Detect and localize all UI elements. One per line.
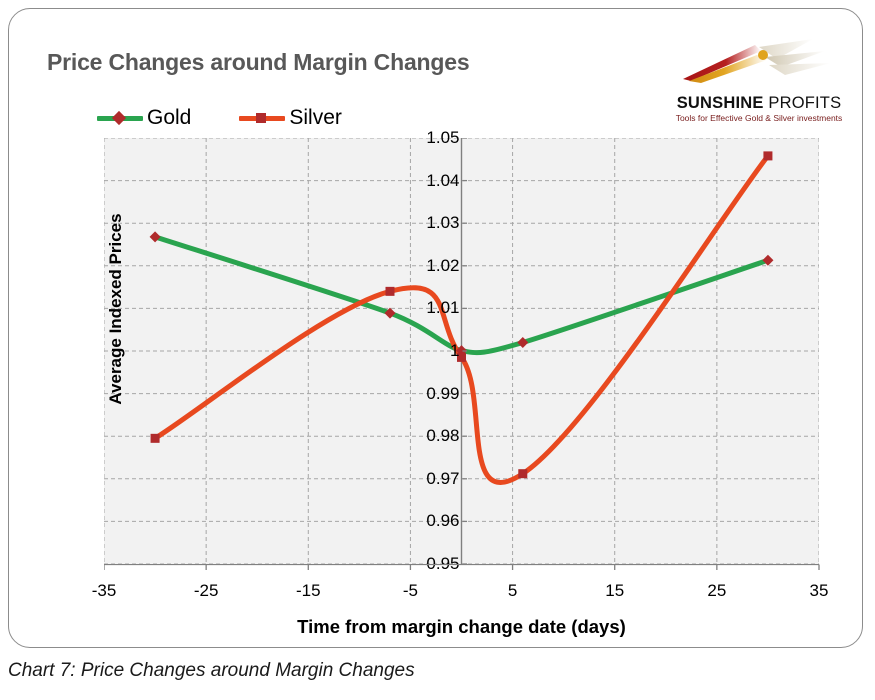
y-tick-label: 0.98 [398,427,460,444]
x-axis-title: Time from margin change date (days) [104,616,819,638]
y-tick-label: 1 [398,342,460,359]
x-tick-label: 15 [590,582,640,599]
y-tick-label: 0.97 [398,470,460,487]
y-tick-label: 1.01 [398,299,460,316]
chart-page: Price Changes around Margin Changes [0,0,875,700]
x-tick-label: -35 [79,582,129,599]
x-tick-label: -5 [385,582,435,599]
data-point-marker-silver [763,151,772,160]
y-tick-label: 1.02 [398,257,460,274]
y-axis-title: Average Indexed Prices [106,179,126,439]
data-point-marker-gold [517,337,528,348]
x-tick-label: 25 [692,582,742,599]
x-tick-label: 5 [488,582,538,599]
data-point-marker-silver [151,434,160,443]
plot-wrapper: 0.950.960.970.980.9911.011.021.031.041.0… [9,9,864,649]
x-tick-label: 35 [794,582,844,599]
figure-caption: Chart 7: Price Changes around Margin Cha… [8,660,415,682]
y-tick-label: 0.99 [398,385,460,402]
x-axis-line [104,564,821,578]
data-point-marker-silver [518,469,527,478]
data-point-marker-silver [386,287,395,296]
chart-card: Price Changes around Margin Changes [8,8,863,648]
y-axis-line [462,138,472,566]
y-tick-label: 1.03 [398,214,460,231]
x-tick-label: -15 [283,582,333,599]
y-tick-label: 1.04 [398,172,460,189]
y-tick-label: 0.96 [398,512,460,529]
y-tick-label: 1.05 [398,129,460,146]
x-tick-label: -25 [181,582,231,599]
